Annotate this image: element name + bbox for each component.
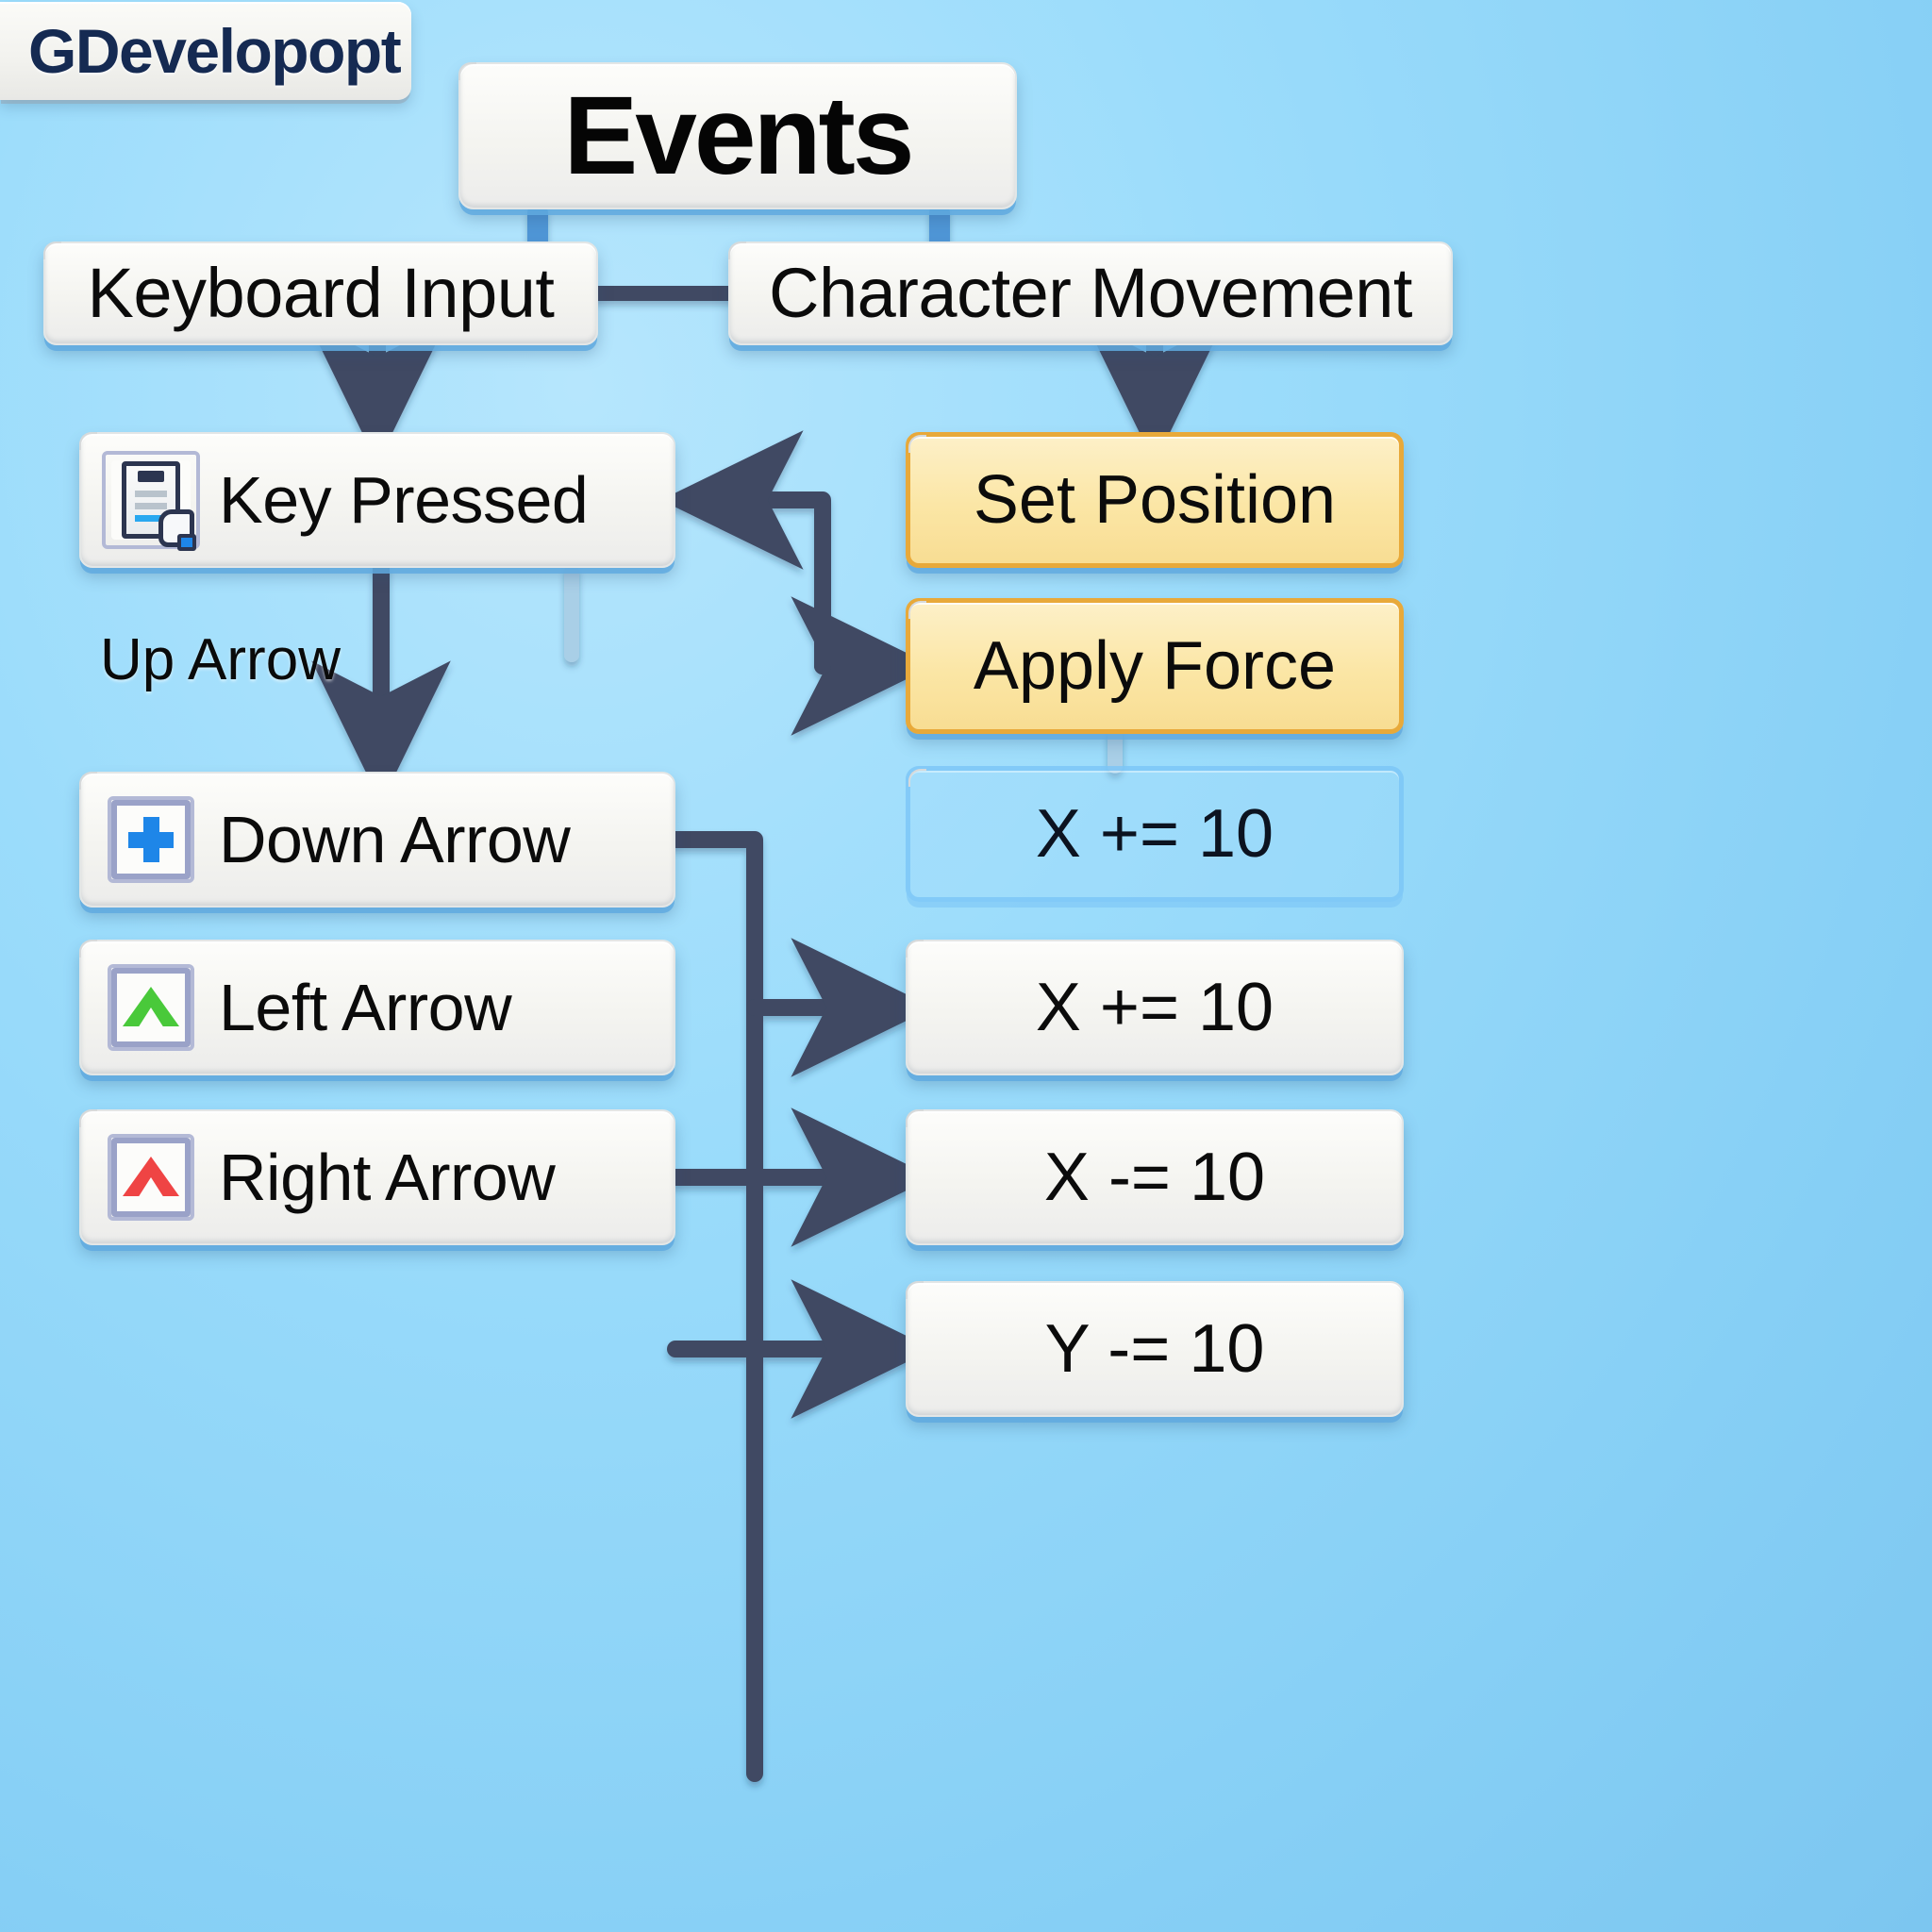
clipboard-hand-icon: [108, 457, 194, 543]
app-logo-text: GDevelopopt: [28, 15, 400, 87]
page-title-text: Events: [564, 80, 912, 192]
action-node-set-position[interactable]: Set Position: [906, 432, 1404, 568]
expression-node-x-plus-10-ghost[interactable]: X += 10: [906, 766, 1404, 902]
expression-node-x-minus-10[interactable]: X -= 10: [906, 1109, 1404, 1245]
group-label-keyboard-input: Keyboard Input: [88, 258, 555, 328]
action-label-apply-force: Apply Force: [974, 632, 1336, 700]
group-node-keyboard-input[interactable]: Keyboard Input: [43, 241, 598, 345]
page-title: Events: [458, 62, 1017, 209]
app-logo-badge: GDevelopopt: [0, 2, 411, 100]
condition-node-left-arrow[interactable]: Left Arrow: [79, 940, 675, 1075]
expression-node-x-plus-10[interactable]: X += 10: [906, 940, 1404, 1075]
action-node-apply-force[interactable]: Apply Force: [906, 598, 1404, 734]
expression-label-x-plus-10-ghost: X += 10: [1036, 800, 1274, 868]
group-node-character-movement[interactable]: Character Movement: [728, 241, 1453, 345]
expression-label-x-minus-10: X -= 10: [1044, 1143, 1265, 1211]
condition-label-key-pressed: Key Pressed: [219, 467, 588, 533]
expression-label-y-minus-10: Y -= 10: [1045, 1315, 1265, 1383]
condition-label-down-arrow: Down Arrow: [219, 807, 570, 873]
condition-node-down-arrow[interactable]: Down Arrow: [79, 772, 675, 908]
action-label-set-position: Set Position: [974, 466, 1336, 534]
blue-plus-icon: [108, 796, 194, 883]
condition-label-left-arrow: Left Arrow: [219, 974, 511, 1041]
condition-node-right-arrow[interactable]: Right Arrow: [79, 1109, 675, 1245]
condition-node-key-pressed[interactable]: Key Pressed: [79, 432, 675, 568]
red-caret-icon: [108, 1134, 194, 1221]
expression-node-y-minus-10[interactable]: Y -= 10: [906, 1281, 1404, 1417]
group-label-character-movement: Character Movement: [769, 258, 1412, 328]
condition-label-right-arrow: Right Arrow: [219, 1144, 555, 1210]
edge-label-up-arrow: Up Arrow: [100, 626, 341, 693]
events-diagram-canvas: GDevelopopt Events Keyboard Input Charac…: [0, 0, 1932, 1932]
expression-label-x-plus-10: X += 10: [1036, 974, 1274, 1041]
green-caret-icon: [108, 964, 194, 1051]
